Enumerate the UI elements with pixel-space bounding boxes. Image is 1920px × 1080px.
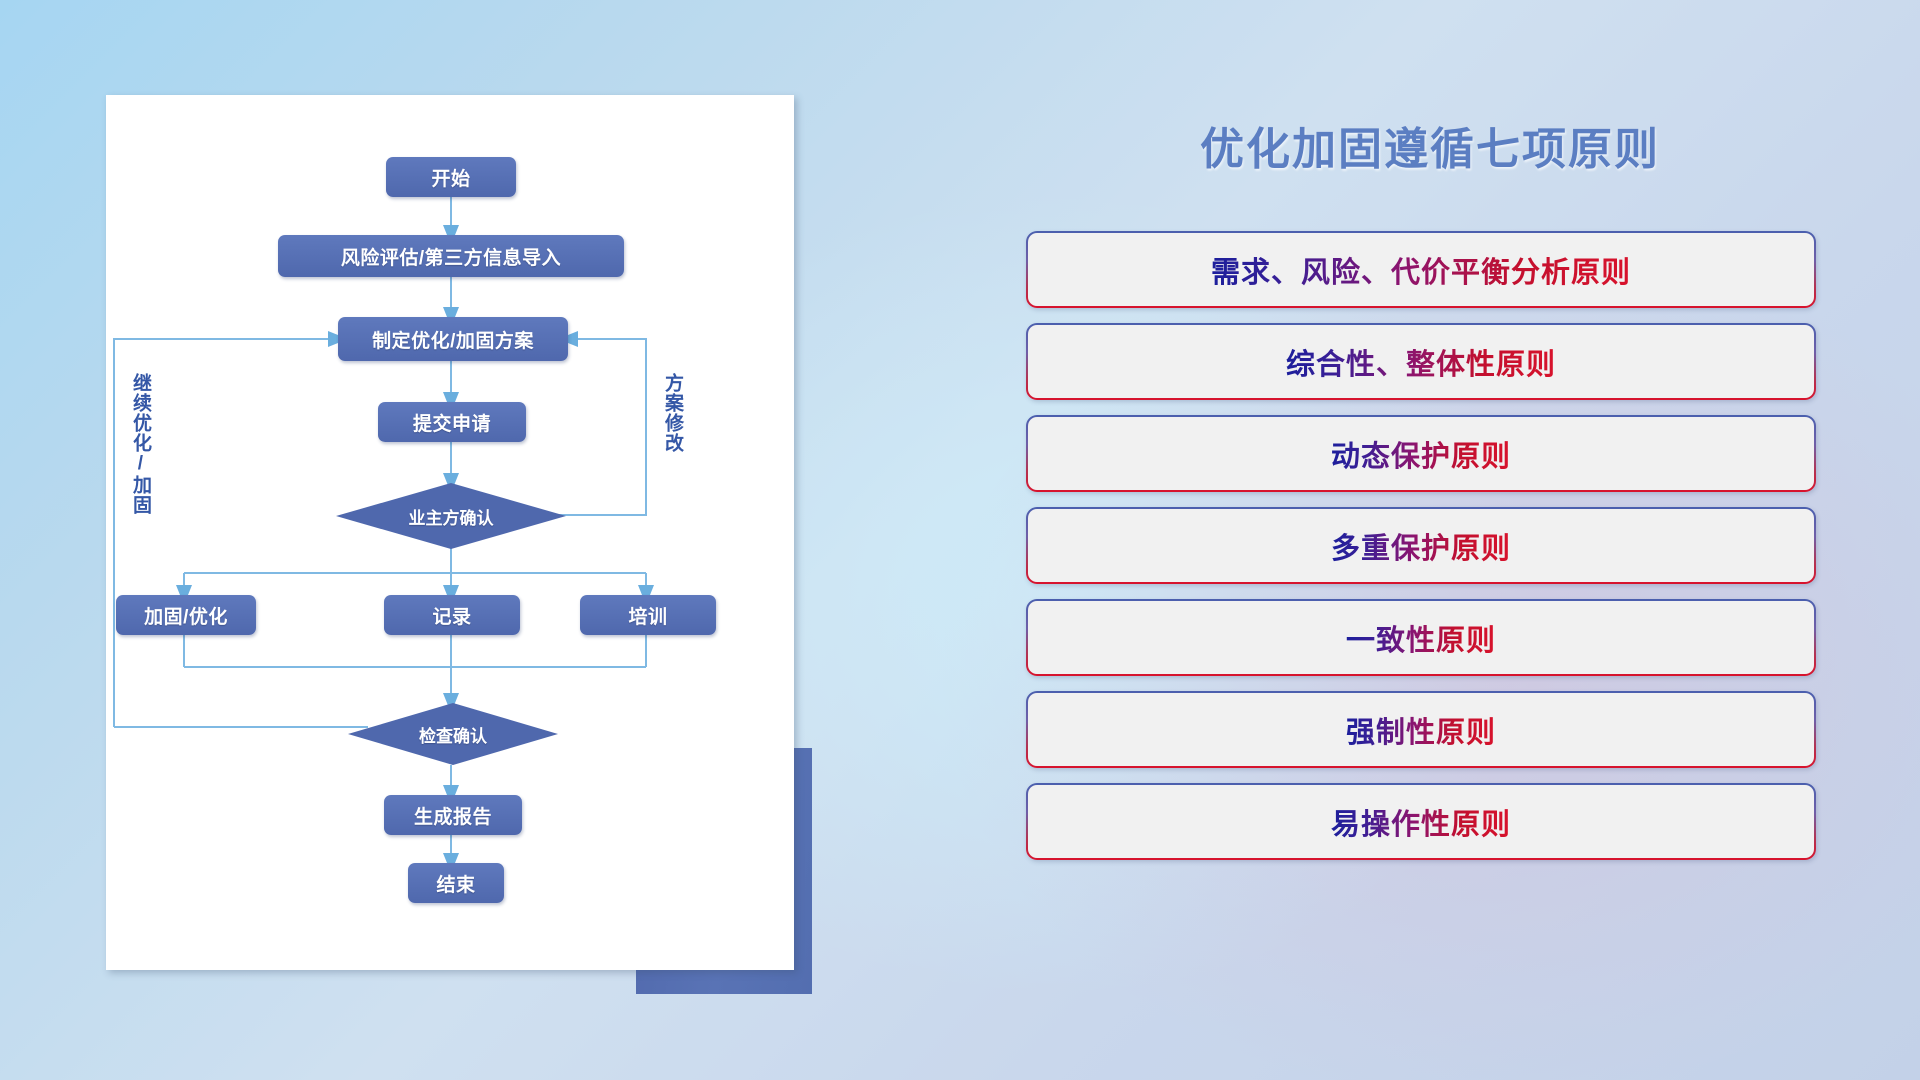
principle-item[interactable]: 易操作性原则 <box>1026 783 1816 860</box>
principle-label: 强制性原则 <box>1346 709 1496 751</box>
flow-node-reinforce[interactable]: 加固/优化 <box>116 595 256 635</box>
principle-label: 动态保护原则 <box>1331 433 1511 475</box>
flow-node-record[interactable]: 记录 <box>384 595 520 635</box>
flow-node-generate-report[interactable]: 生成报告 <box>384 795 522 835</box>
principle-inner: 多重保护原则 <box>1028 509 1814 582</box>
flow-node-label: 制定优化/加固方案 <box>372 326 534 353</box>
principle-inner: 综合性、整体性原则 <box>1028 325 1814 398</box>
flow-node-label: 检查确认 <box>419 722 487 747</box>
principle-label: 一致性原则 <box>1346 617 1496 659</box>
principle-item[interactable]: 动态保护原则 <box>1026 415 1816 492</box>
flow-node-label: 培训 <box>628 602 667 629</box>
principle-inner: 易操作性原则 <box>1028 785 1814 858</box>
flow-node-end[interactable]: 结束 <box>408 863 504 903</box>
principle-item[interactable]: 强制性原则 <box>1026 691 1816 768</box>
flow-node-risk-assessment[interactable]: 风险评估/第三方信息导入 <box>278 235 624 277</box>
flow-node-submit-application[interactable]: 提交申请 <box>378 402 526 442</box>
principle-item[interactable]: 需求、风险、代价平衡分析原则 <box>1026 231 1816 308</box>
principle-label: 易操作性原则 <box>1331 801 1511 843</box>
principle-label: 综合性、整体性原则 <box>1286 341 1556 383</box>
flow-node-label: 提交申请 <box>413 409 491 436</box>
flow-node-label: 结束 <box>436 870 475 897</box>
principle-item[interactable]: 综合性、整体性原则 <box>1026 323 1816 400</box>
principle-inner: 动态保护原则 <box>1028 417 1814 490</box>
edge-label-plan-revision: 方案修改 <box>662 373 682 453</box>
flow-node-label: 记录 <box>432 602 471 629</box>
flow-node-check-confirm[interactable]: 检查确认 <box>348 703 558 765</box>
flow-node-label: 生成报告 <box>414 802 492 829</box>
slide-canvas: 开始 风险评估/第三方信息导入 制定优化/加固方案 提交申请 业主方确认 加固/… <box>0 0 1920 1080</box>
principle-label: 多重保护原则 <box>1331 525 1511 567</box>
principles-title: 优化加固遵循七项原则 <box>1010 113 1850 177</box>
principles-list: 需求、风险、代价平衡分析原则 综合性、整体性原则 动态保护原则 多重保护原则 <box>1026 231 1816 875</box>
principle-inner: 一致性原则 <box>1028 601 1814 674</box>
flow-node-plan[interactable]: 制定优化/加固方案 <box>338 317 568 361</box>
principle-inner: 强制性原则 <box>1028 693 1814 766</box>
flow-node-label: 加固/优化 <box>144 602 228 629</box>
principle-inner: 需求、风险、代价平衡分析原则 <box>1028 233 1814 306</box>
flow-node-owner-confirm[interactable]: 业主方确认 <box>336 483 566 549</box>
flowchart-panel: 开始 风险评估/第三方信息导入 制定优化/加固方案 提交申请 业主方确认 加固/… <box>106 95 794 970</box>
principles-pane: 优化加固遵循七项原则 需求、风险、代价平衡分析原则 综合性、整体性原则 动态保护… <box>1010 95 1850 995</box>
edge-label-continue-optimize: 继续优化/加固 <box>130 373 150 515</box>
principle-item[interactable]: 多重保护原则 <box>1026 507 1816 584</box>
flow-node-start[interactable]: 开始 <box>386 157 516 197</box>
flow-node-label: 业主方确认 <box>409 504 494 529</box>
principle-item[interactable]: 一致性原则 <box>1026 599 1816 676</box>
flow-node-training[interactable]: 培训 <box>580 595 716 635</box>
principle-label: 需求、风险、代价平衡分析原则 <box>1211 249 1631 291</box>
flow-node-label: 风险评估/第三方信息导入 <box>341 243 561 270</box>
flow-node-label: 开始 <box>431 164 470 191</box>
